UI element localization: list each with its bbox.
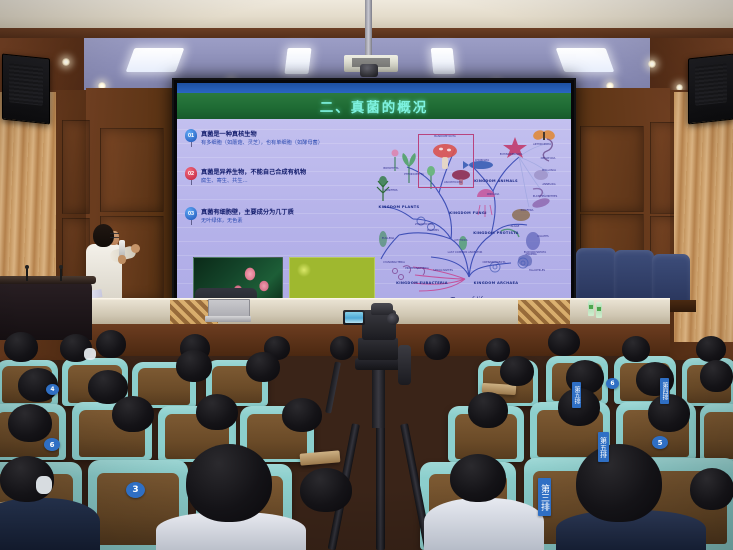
downlight-1 <box>62 58 70 66</box>
seat-number-badge-1: 4 <box>46 384 59 395</box>
taxon-label-bryophyta: BRYOPHYTA <box>373 167 409 170</box>
audience-head-a4 <box>246 352 280 382</box>
ceiling-panel-light-3 <box>431 48 456 74</box>
ceiling-panel-light-4 <box>556 48 615 72</box>
slide-content-area: 01 真菌是一种真核生物 有多细胞（如蘑菇、灵芝），也有单细胞（如酵母菌） 02… <box>177 119 571 309</box>
tree-of-life-diagram: KINGDOM PLANTS KINGDOM ANIMALS KINGDOM F… <box>373 127 565 305</box>
kingdom-label-archaea: KINGDOM ARCHAEA <box>467 281 525 285</box>
kingdom-label-eubacteria: KINGDOM EUBACTERIA <box>393 281 451 285</box>
fold-desk-mid[interactable] <box>300 450 341 465</box>
audience-head-d3 <box>300 468 352 512</box>
projector-lens <box>360 64 378 77</box>
bullet-2-main: 真菌是异养生物，不能自己合成有机物 <box>201 167 306 176</box>
taxon-label-nematoda: NEMATODA <box>531 157 565 160</box>
presenter-glasses <box>110 233 119 238</box>
kingdom-label-plants: KINGDOM PLANTS <box>375 205 423 209</box>
row-label-1: 第五排 <box>572 382 581 408</box>
audience-head-c2 <box>112 396 154 432</box>
audience-head-c4 <box>282 398 322 432</box>
taxon-label-zygomycota: ZYGOMYCOTA <box>405 223 443 226</box>
seat-number-badge-5: 3 <box>126 482 145 498</box>
audience-head-b1 <box>4 332 38 362</box>
face-mask-d1 <box>36 476 52 494</box>
taxon-label-euglena: EUGLENA <box>373 237 403 240</box>
taxon-label-platyhelminthes: PLATYHELMINTHES <box>525 195 565 198</box>
seat-number-badge-4: 5 <box>652 436 668 449</box>
audience-shoulders-d4 <box>424 498 544 550</box>
lecture-hall-photo: 二、真菌的概况 01 真菌是一种真核生物 有多细胞（如蘑菇、灵芝），也有单细胞（… <box>0 0 733 550</box>
bullet-marker-03: 03 <box>185 207 197 220</box>
ceiling-panel-light-2 <box>284 48 311 74</box>
row-label-4: 第三排 <box>538 478 551 516</box>
audience-head-d6 <box>690 468 733 510</box>
audience-head-c7 <box>648 394 690 432</box>
audience-head-c3 <box>196 394 238 430</box>
podium <box>0 278 92 340</box>
audience-head-d5 <box>576 444 662 522</box>
wall-speaker-right <box>688 54 733 125</box>
bullet-2-sub: 腐生、寄生、共生… <box>201 177 306 184</box>
bullet-1-main: 真菌是一种真核生物 <box>201 129 323 138</box>
laptop-keyboard[interactable] <box>205 316 251 322</box>
presenter-hand-gesture <box>131 244 140 253</box>
taxon-label-pteridophyta: PTERIDOPHYTA <box>395 173 433 176</box>
projection-screen: 二、真菌的概况 01 真菌是一种真核生物 有多细胞（如蘑菇、灵芝），也有单细胞（… <box>172 78 576 314</box>
seat-b8[interactable] <box>700 404 733 462</box>
taxon-label-porifera: PORIFERA <box>511 209 543 212</box>
seat-number-badge-2: 6 <box>606 378 619 389</box>
slide-top-bar <box>177 83 571 93</box>
bullet-3-sub: 无叶绿体，无色素 <box>201 217 294 224</box>
audience-head-b10 <box>622 336 650 362</box>
taxon-label-cyanobacteria: CYANOBACTERIA <box>373 261 415 264</box>
taxon-label-basidiomycota: BASIDIOMYCOTA <box>421 135 469 138</box>
ceiling-panel-light-1 <box>126 48 185 72</box>
projector-mount-pole <box>365 0 372 58</box>
taxon-label-algae: ALGAE <box>501 225 529 228</box>
camcorder-lens <box>387 313 399 325</box>
tripod-leg-center <box>376 424 385 550</box>
blue-armchair-1 <box>576 248 616 304</box>
bullet-1-sub: 有多细胞（如蘑菇、灵芝），也有单细胞（如酵母菌） <box>201 139 323 146</box>
audience-head-b11 <box>696 336 726 362</box>
audience-head-b7 <box>424 334 450 360</box>
taxon-label-mollusca: MOLLUSCA <box>533 169 565 172</box>
taxon-label-chordata: CHORDATA <box>465 159 499 162</box>
wall-speaker-left <box>2 53 50 124</box>
taxon-label-echinodermata: ECHINODERMATA <box>489 153 533 156</box>
audience-head-a5 <box>500 356 534 386</box>
taxon-label-arthropoda: ARTHROPODA <box>523 143 561 146</box>
wood-panel-left-1 <box>62 120 90 214</box>
kingdom-label-animals: KINGDOM ANIMALS <box>473 179 519 183</box>
taxon-label-crenarchaeota: CRENARCHAEOTA <box>473 261 515 264</box>
taxon-label-diatoms: DIATOMS <box>417 229 449 232</box>
audience-head-a8 <box>700 360 733 392</box>
taxon-label-annelida: ANNELIDA <box>533 183 565 186</box>
audience-head-d4 <box>450 454 506 502</box>
audience-shoulders-d1 <box>0 498 100 550</box>
seat-number-badge-3: 6 <box>44 438 60 451</box>
taxon-label-cnidaria: CNIDARIA <box>477 193 509 196</box>
taxon-label-halophiles: HALOPHILES <box>519 269 555 272</box>
row-label-2: 第四排 <box>660 378 669 404</box>
audience-head-b9 <box>548 328 580 356</box>
camcorder-lcd-screen[interactable] <box>343 310 365 325</box>
slide-bullet-2: 02 真菌是异养生物，不能自己合成有机物 腐生、寄生、共生… <box>185 167 306 184</box>
taxon-label-spirochaetes: SPIROCHAETES <box>423 269 463 272</box>
wood-panel-left-3 <box>100 128 164 212</box>
taxon-label-ciliates: CILIATES <box>527 235 559 238</box>
bullet-marker-02: 02 <box>185 167 197 180</box>
bullet-marker-01: 01 <box>185 129 197 142</box>
audience-head-a3 <box>176 350 212 382</box>
camcorder-grip[interactable] <box>398 345 411 385</box>
taxon-label-last-common-ancestor: LAST COMMON ANCESTOR <box>439 251 491 254</box>
slide-surface: 二、真菌的概况 01 真菌是一种真核生物 有多细胞（如蘑菇、灵芝），也有单细胞（… <box>177 83 571 309</box>
taxon-label-ascomycota: ASCOMYCOTA <box>431 181 475 184</box>
face-mask-b2 <box>84 348 96 360</box>
camcorder-lower-body <box>358 338 398 360</box>
audience-head-b6 <box>330 336 354 360</box>
water-bottle-1 <box>588 300 594 316</box>
downlight-9 <box>648 60 656 68</box>
podium-microphone-1 <box>26 268 28 281</box>
kingdom-label-fungi: KINGDOM FUNGI <box>445 211 491 215</box>
audience-head-c1 <box>8 404 52 442</box>
row-label-3: 第五排 <box>598 432 609 462</box>
slide-bullet-1: 01 真菌是一种真核生物 有多细胞（如蘑菇、灵芝），也有单细胞（如酵母菌） <box>185 129 323 146</box>
kingdom-label-protista: KINGDOM PROTISTA <box>471 231 521 235</box>
tripod-pan-handle[interactable] <box>325 361 341 413</box>
audience-head-c5 <box>468 392 508 428</box>
presenter-hand-holding-mic <box>118 255 126 264</box>
tripod-center-column <box>372 368 385 428</box>
stage-panel-lattice-right <box>518 300 570 326</box>
bullet-3-main: 真菌有细胞壁，主要成分为几丁质 <box>201 207 294 216</box>
podium-microphone-2 <box>60 268 62 281</box>
slide-title: 二、真菌的概况 <box>177 94 571 118</box>
taxon-label-euryarchaeota: EURYARCHAEOTA <box>513 251 557 254</box>
audience-head-b3 <box>96 330 126 358</box>
taxon-label-chytrids: CHYTRIDS <box>445 239 477 242</box>
slide-bullet-3: 03 真菌有细胞壁，主要成分为几丁质 无叶绿体，无色素 <box>185 207 294 224</box>
audience-head-d2 <box>186 444 272 522</box>
water-bottle-2 <box>596 302 602 318</box>
taxon-label-conifers: CONIFERS <box>375 189 407 192</box>
podium-top-surface <box>0 276 96 284</box>
wood-panel-right-1 <box>580 126 644 212</box>
